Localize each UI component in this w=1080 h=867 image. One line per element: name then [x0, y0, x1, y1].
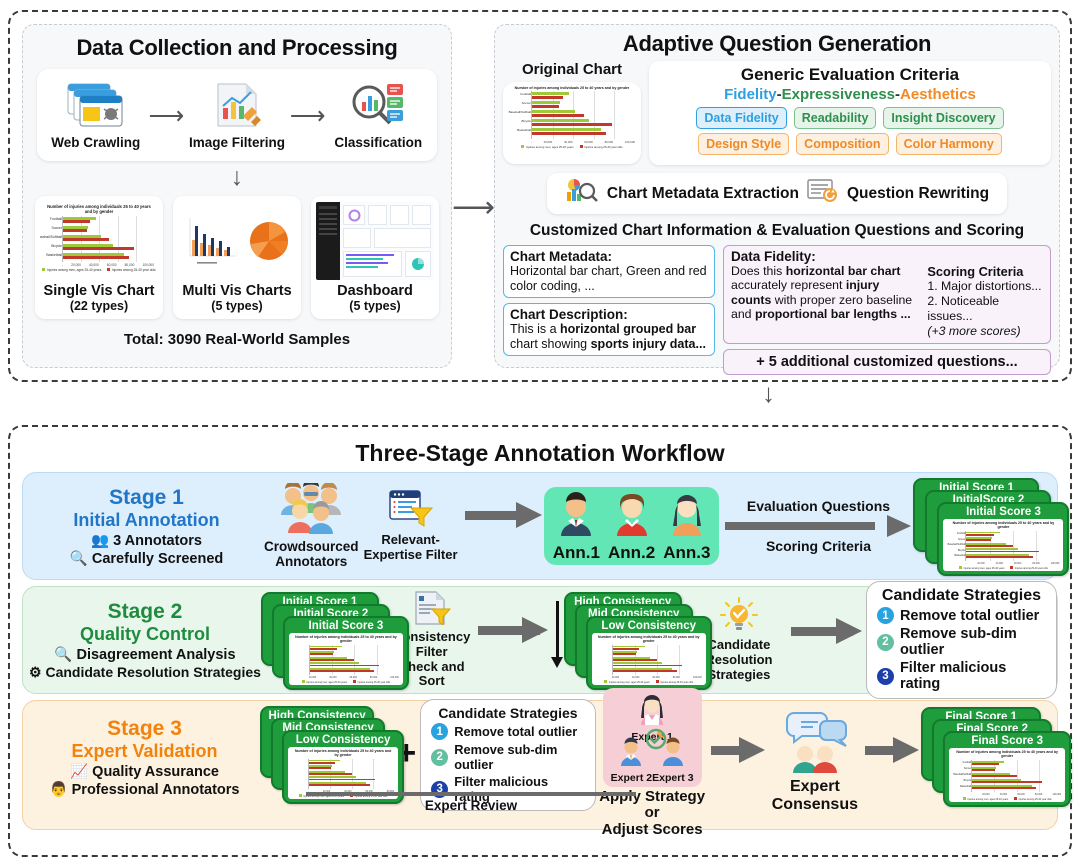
- scoring-criteria-item: 2. Noticeable issues...: [927, 294, 1043, 324]
- stage2-arrow-2-icon: [791, 618, 862, 644]
- collection-pipeline: Web Crawling ⟶ Image Filte: [37, 69, 437, 161]
- criteria-tags-row-1: Data Fidelity Readability Insight Discov…: [655, 107, 1045, 129]
- vis-card-single: Number of injuries among individuals 25 …: [35, 196, 163, 319]
- score-card: Initial Score 3 Number of injuries among…: [283, 616, 409, 690]
- stage3-arrow-1-icon: [711, 737, 766, 763]
- panel2-title: Adaptive Question Generation: [503, 31, 1051, 57]
- stage-2-row: Stage 2 Quality Control 🔍 Disagreement A…: [22, 586, 1058, 694]
- stage-1-row: Stage 1 Initial Annotation 👥 3 Annotator…: [22, 472, 1058, 580]
- strategy-label: Remove sub-dim outlier: [454, 742, 584, 772]
- criteria-triad: Fidelity-Expressiveness-Aesthetics: [655, 86, 1045, 103]
- strategy-label: Remove total outlier: [454, 724, 577, 739]
- pipeline-label-classification: Classification: [334, 135, 422, 150]
- chart-metadata-body: Horizontal bar chart, Green and red colo…: [510, 264, 708, 293]
- criteria-tag-insight-discovery[interactable]: Insight Discovery: [883, 107, 1003, 129]
- additional-questions-label: + 5 additional customized questions...: [723, 349, 1051, 375]
- crowdsourced-annotators-group: CrowdsourcedAnnotators: [264, 483, 359, 570]
- criteria-title: Generic Evaluation Criteria: [655, 65, 1045, 85]
- chart-metadata-extraction-label: Chart Metadata Extraction: [607, 185, 799, 203]
- stage-1-bullet-2: 🔍 Carefully Screened: [29, 550, 264, 567]
- annotator-2: Ann.2: [608, 492, 655, 563]
- final-score-label: Final Score 3: [945, 733, 1069, 748]
- annotator-name: Ann.2: [608, 543, 655, 563]
- image-filter-icon: [210, 82, 264, 133]
- strategy-item-1: 1 Remove total outlier: [877, 607, 1046, 624]
- vis-card-caption: Dashboard: [316, 284, 434, 299]
- original-chart-label: Original Chart: [503, 61, 641, 78]
- annotator-1: Ann.1: [553, 492, 600, 563]
- expert-review-bar: [306, 792, 636, 796]
- strategy-number-badge: 1: [877, 607, 894, 624]
- strategy-item-2: 2 Remove sub-dim outlier: [431, 742, 584, 772]
- strategy-number-badge: 2: [877, 634, 894, 651]
- criteria-tag-color-harmony[interactable]: Color Harmony: [896, 133, 1002, 155]
- final-scores-stack: Final Score 1 Final Score 2 Final Score …: [921, 707, 1057, 811]
- stage-3-name: Expert Validation: [29, 741, 260, 762]
- consistency-card-thumbnail: Number of injuries among individuals 25 …: [592, 633, 706, 685]
- panel-data-collection: Data Collection and Processing: [22, 24, 452, 368]
- metadata-extraction-bar: Chart Metadata Extraction Question Rewri…: [547, 173, 1007, 214]
- thumbnail-dashboard: [316, 202, 434, 280]
- vis-card-multi: Multi Vis Charts (5 types): [173, 196, 301, 319]
- data-fidelity-question-box: Data Fidelity: Does this horizontal bar …: [723, 245, 1051, 344]
- expert-consensus-label: ExpertConsensus: [772, 778, 858, 813]
- data-fidelity-heading: Data Fidelity:: [731, 249, 1043, 264]
- original-chart-block: Original Chart Number of injuries among …: [503, 61, 641, 165]
- stage-2-bullet-1: 🔍 Disagreement Analysis: [29, 646, 261, 663]
- panel1-down-arrow-icon: ↓: [33, 165, 441, 190]
- stage1-arrow-1-icon: [465, 502, 542, 528]
- strategy-item-3: 3 Filter malicious rating: [877, 660, 1046, 692]
- consensus-discussion-icon: [780, 711, 850, 778]
- vis-card-caption: Single Vis Chart: [40, 284, 158, 299]
- pipeline-arrow-1-icon: ⟶: [148, 104, 184, 129]
- panel1-title: Data Collection and Processing: [33, 35, 441, 61]
- chart-description-box: Chart Description: This is a horizontal …: [503, 303, 715, 356]
- vis-category-cards: Number of injuries among individuals 25 …: [35, 196, 439, 319]
- relevant-expertise-filter-group: Relevant-Expertise Filter: [359, 490, 463, 563]
- stage2-arrow-1-icon: [478, 617, 549, 643]
- lightbulb-idea-icon: [717, 597, 761, 638]
- criteria-tag-data-fidelity[interactable]: Data Fidelity: [696, 107, 786, 129]
- stage-2-bullet-2: ⚙ Candidate Resolution Strategies: [29, 664, 261, 681]
- strategy-label: Remove total outlier: [900, 608, 1039, 624]
- expert-label: Expert 2: [611, 772, 652, 784]
- scoring-criteria-heading: Scoring Criteria: [927, 264, 1043, 279]
- strategies-title: Candidate Strategies: [431, 705, 584, 721]
- stage2-down-arrow-icon: [550, 601, 561, 671]
- experts-box: Expert 1 Expert 2: [603, 688, 702, 787]
- magnifier-icon: 🔍: [70, 551, 88, 567]
- pipeline-label-image-filtering: Image Filtering: [189, 135, 285, 150]
- initial-scores-stack-1: Initial Score 1 InitialScore 2 Initial S…: [913, 476, 1057, 576]
- consistency-card-label: Low Consistency: [284, 732, 402, 747]
- stage-1-number: Stage 1: [29, 486, 264, 510]
- evaluation-questions-label: Evaluation Questions: [747, 498, 890, 514]
- candidate-strategies-box-stage2: Candidate Strategies 1 Remove total outl…: [866, 581, 1057, 699]
- stage3-arrow-2-icon: [865, 737, 920, 763]
- criteria-tag-composition[interactable]: Composition: [796, 133, 888, 155]
- chart-description-body: This is a horizontal grouped bar chart s…: [510, 322, 708, 351]
- expertise-filter-icon: [388, 490, 434, 533]
- criteria-tag-readability[interactable]: Readability: [794, 107, 877, 129]
- stage-1-bullet-1: 👥 3 Annotators: [29, 532, 264, 549]
- criteria-tags-row-2: Design Style Composition Color Harmony: [655, 133, 1045, 155]
- consistency-filter-icon: [412, 591, 452, 630]
- annotators-box: Ann.1 Ann.2 Ann.3: [544, 487, 720, 565]
- panel-adaptive-question-generation: Adaptive Question Generation Original Ch…: [494, 24, 1060, 368]
- score-card-label: Initial Score 3: [285, 618, 407, 633]
- strategy-number-badge: 1: [431, 723, 448, 740]
- chart-description-heading: Chart Description:: [510, 307, 708, 322]
- generic-evaluation-criteria: Generic Evaluation Criteria Fidelity-Exp…: [649, 61, 1051, 165]
- crowd-caption: CrowdsourcedAnnotators: [264, 540, 359, 570]
- person-icon: 👨: [50, 782, 68, 798]
- pipeline-step-web-crawling: Web Crawling: [43, 82, 148, 150]
- chart-metadata-heading: Chart Metadata:: [510, 249, 708, 264]
- annotator-3: Ann.3: [663, 492, 710, 563]
- vis-card-subcaption: (5 types): [178, 299, 296, 313]
- workflow-title: Three-Stage Annotation Workflow: [0, 440, 1080, 467]
- strategy-label: Remove sub-dim outlier: [900, 626, 1046, 658]
- stage-3-bullet-2: 👨 Professional Annotators: [29, 781, 260, 798]
- strategy-number-badge: 3: [877, 668, 894, 685]
- crowd-people-icon: [277, 483, 345, 540]
- stage1-eval-arrow-group: Evaluation Questions Scoring Criteria: [725, 498, 911, 554]
- stage-2-number: Stage 2: [29, 600, 261, 624]
- panel1-to-panel2-arrow-icon: ⟶: [452, 190, 495, 225]
- document-rewrite-icon: [807, 179, 839, 208]
- score-card-label: Initial Score 3: [939, 504, 1067, 519]
- filter-label: Relevant-Expertise Filter: [364, 533, 458, 563]
- vis-card-caption: Multi Vis Charts: [178, 284, 296, 299]
- total-samples-label: Total: 3090 Real-World Samples: [33, 331, 441, 348]
- pipeline-arrow-2-icon: ⟶: [290, 104, 326, 129]
- stage-3-header: Stage 3 Expert Validation 📈 Quality Assu…: [23, 717, 260, 798]
- figure-root: Data Collection and Processing: [0, 0, 1080, 867]
- expert-consensus-group: ExpertConsensus: [767, 711, 862, 813]
- question-rewriting-label: Question Rewriting: [847, 185, 989, 203]
- chart-metadata-box: Chart Metadata: Horizontal bar chart, Gr…: [503, 245, 715, 298]
- strategy-number-badge: 2: [431, 749, 448, 766]
- stage-2-name: Quality Control: [29, 624, 261, 645]
- panel2-subtitle: Customized Chart Information & Evaluatio…: [503, 222, 1051, 240]
- expert-label: Expert 3: [652, 772, 693, 784]
- vis-card-subcaption: (5 types): [316, 299, 434, 313]
- pipeline-step-classification: Classification: [326, 82, 431, 150]
- magnifier-icon: 🔍: [54, 647, 72, 663]
- stage-3-bullet-1: 📈 Quality Assurance: [29, 763, 260, 780]
- vis-card-dashboard: Dashboard (5 types): [311, 196, 439, 319]
- strategies-title: Candidate Strategies: [877, 587, 1046, 605]
- score-card-thumbnail: Number of injuries among individuals 25 …: [289, 633, 403, 685]
- chart-magnifier-icon: [565, 178, 599, 209]
- strategy-item-2: 2 Remove sub-dim outlier: [877, 626, 1046, 658]
- original-chart-thumbnail: Number of injuries among individuals 25 …: [503, 82, 641, 164]
- panel2-to-workflow-arrow-icon: ↓: [762, 378, 775, 409]
- scoring-criteria-block: Scoring Criteria 1. Major distortions...…: [927, 264, 1043, 338]
- final-score-card: Final Score 3 Number of injuries among i…: [943, 731, 1071, 807]
- thumbnail-single-vis-chart: Number of injuries among individuals 25 …: [40, 202, 158, 280]
- criteria-tag-design-style[interactable]: Design Style: [698, 133, 789, 155]
- vis-card-subcaption: (22 types): [40, 299, 158, 313]
- triad-expressiveness: Expressiveness: [782, 86, 895, 103]
- final-score-thumbnail: Number of injuries among individuals 25 …: [949, 748, 1065, 802]
- consistency-card: Low Consistency Number of injuries among…: [586, 616, 712, 690]
- expert-review-label: Expert Review: [306, 798, 636, 813]
- initial-scores-stack-2: Initial Score 1 Initial Score 2 Initial …: [261, 590, 386, 690]
- chart-up-icon: 📈: [70, 764, 88, 780]
- triad-aesthetics: Aesthetics: [900, 86, 976, 103]
- web-crawler-icon: [66, 82, 126, 133]
- data-fidelity-question: Does this horizontal bar chart accuratel…: [731, 264, 919, 338]
- classification-search-icon: [349, 82, 407, 133]
- thumbnail-multi-vis-charts: [178, 202, 296, 280]
- apply-strategy-group: Expert 1 Expert 2: [596, 688, 709, 839]
- stage-2-header: Stage 2 Quality Control 🔍 Disagreement A…: [23, 600, 261, 681]
- people-icon: 👥: [91, 533, 109, 549]
- stage1-arrow-2-icon: [725, 515, 911, 537]
- pipeline-label-web-crawling: Web Crawling: [51, 135, 140, 150]
- score-card: Initial Score 3 Number of injuries among…: [937, 502, 1069, 576]
- stage-1-header: Stage 1 Initial Annotation 👥 3 Annotator…: [23, 486, 264, 567]
- candidate-resolution-label: CandidateResolutionStrategies: [705, 638, 772, 683]
- consistency-stack: High Consistency Mid Consistency Low Con…: [564, 590, 689, 690]
- annotator-name: Ann.1: [553, 543, 600, 563]
- triad-fidelity: Fidelity: [724, 86, 777, 103]
- strategy-item-1: 1 Remove total outlier: [431, 723, 584, 740]
- stage-1-name: Initial Annotation: [29, 510, 264, 531]
- scoring-criteria-label: Scoring Criteria: [766, 538, 871, 554]
- pipeline-step-image-filtering: Image Filtering: [184, 82, 289, 150]
- expert-review-connector: Expert Review: [306, 792, 636, 813]
- stage-3-number: Stage 3: [29, 717, 260, 741]
- gear-icon: ⚙: [29, 664, 42, 680]
- annotator-name: Ann.3: [663, 543, 710, 563]
- scoring-criteria-more: (+3 more scores): [927, 324, 1043, 339]
- score-card-thumbnail: Number of injuries among individuals 25 …: [943, 519, 1063, 571]
- strategy-label: Filter malicious rating: [900, 660, 1046, 692]
- scoring-criteria-item: 1. Major distortions...: [927, 279, 1043, 294]
- consistency-card-label: Low Consistency: [588, 618, 710, 633]
